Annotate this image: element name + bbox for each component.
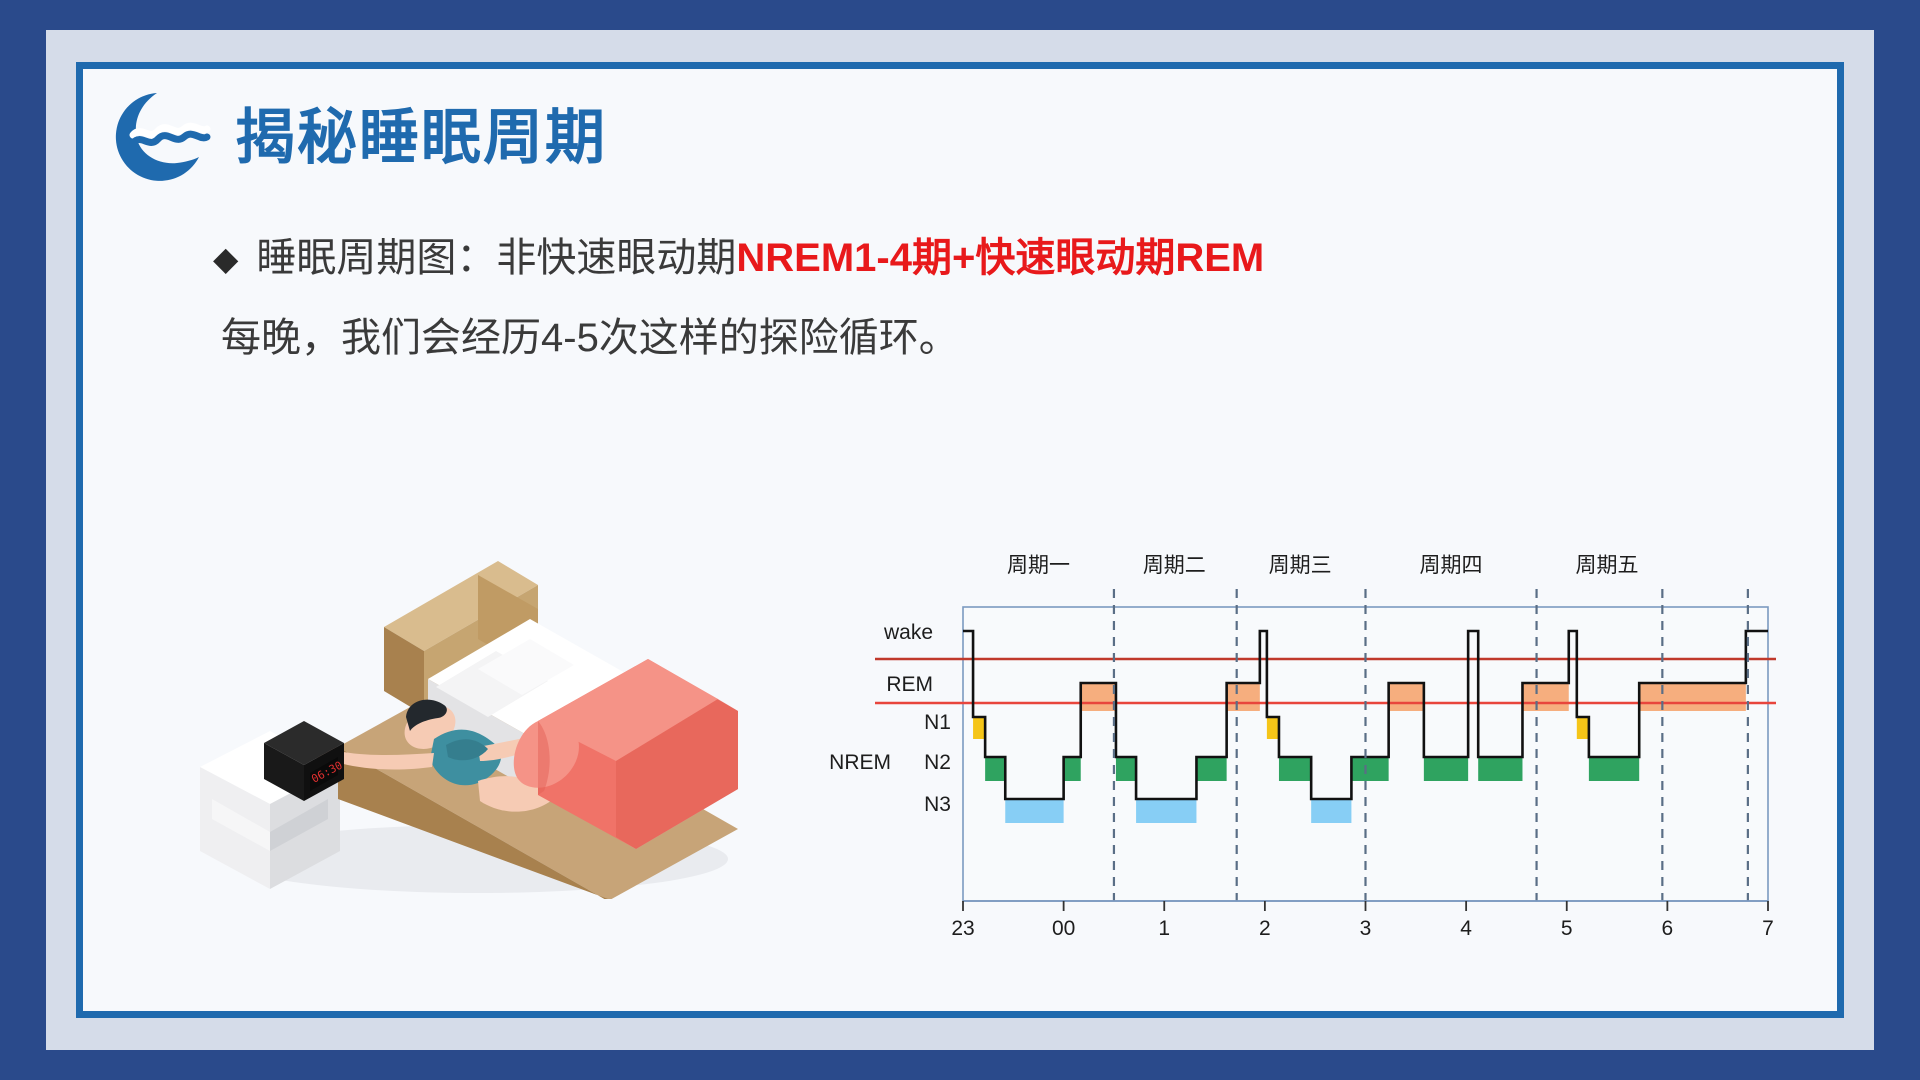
page-title: 揭秘睡眠周期 bbox=[235, 108, 607, 168]
hypnogram-chart: 周期一周期二周期三周期四周期五 wakeREMN1N2N3NREM2300123… bbox=[783, 549, 1783, 969]
stage-band-N2 bbox=[1589, 757, 1639, 781]
diamond-bullet-icon: ◆ bbox=[213, 242, 238, 275]
stage-band-N2 bbox=[1424, 757, 1468, 781]
crescent-moon-icon bbox=[103, 79, 221, 197]
bullet-text-red: NREM1-4期+快速眼动期REM bbox=[736, 229, 1264, 287]
slide-outer-border: 揭秘睡眠周期 ◆ 睡眠周期图：非快速眼动期NREM1-4期+快速眼动期REM 每… bbox=[0, 0, 1920, 1080]
stage-band-N3 bbox=[1005, 799, 1063, 823]
body-paragraph: 每晚，我们会经历4-5次这样的探险循环。 bbox=[221, 309, 1713, 367]
stage-band-N2 bbox=[1478, 757, 1522, 781]
person-sleeping-in-bed-illustration: 06:30 bbox=[178, 499, 738, 899]
bullet-item-1: ◆ 睡眠周期图：非快速眼动期NREM1-4期+快速眼动期REM bbox=[213, 229, 1713, 287]
stage-band-REM bbox=[1389, 683, 1424, 711]
slide-header: 揭秘睡眠周期 bbox=[103, 79, 607, 197]
stage-band-N2 bbox=[1116, 757, 1136, 781]
slide-content: 揭秘睡眠周期 ◆ 睡眠周期图：非快速眼动期NREM1-4期+快速眼动期REM 每… bbox=[83, 69, 1837, 1011]
bullet-text-black: 睡眠周期图：非快速眼动期 bbox=[256, 229, 736, 287]
stage-band-N1 bbox=[973, 717, 985, 739]
stage-band-N3 bbox=[1311, 799, 1351, 823]
stage-band-N2 bbox=[1196, 757, 1226, 781]
stage-band-N1 bbox=[1577, 717, 1589, 739]
stage-band-REM bbox=[1522, 683, 1568, 711]
stage-band-REM bbox=[1639, 683, 1746, 711]
stage-band-REM bbox=[1227, 683, 1260, 711]
stage-band-N2 bbox=[1351, 757, 1388, 781]
stage-band-N3 bbox=[1136, 799, 1196, 823]
hypnogram-plot bbox=[783, 549, 1783, 969]
stage-band-N2 bbox=[1064, 757, 1081, 781]
stage-band-REM bbox=[1081, 683, 1116, 711]
stage-band-N2 bbox=[985, 757, 1005, 781]
stage-band-N2 bbox=[1279, 757, 1311, 781]
stage-band-N1 bbox=[1267, 717, 1279, 739]
bullet-block: ◆ 睡眠周期图：非快速眼动期NREM1-4期+快速眼动期REM 每晚，我们会经历… bbox=[213, 229, 1713, 367]
